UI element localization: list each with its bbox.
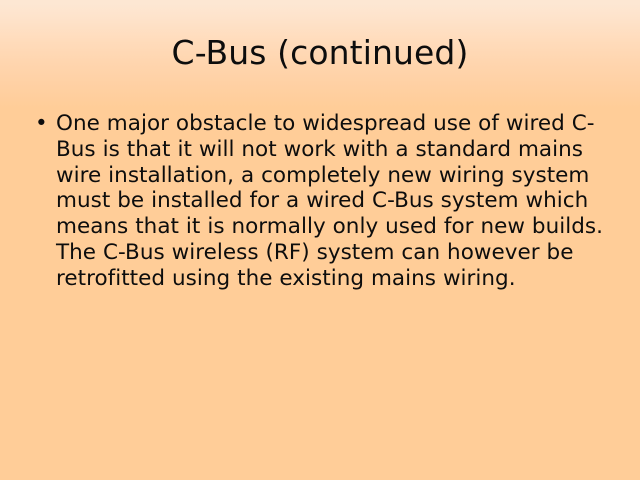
bullet-list-item: • One major obstacle to widespread use o… [33,111,611,292]
bullet-item-text: One major obstacle to widespread use of … [56,111,611,292]
presentation-slide: C-Bus (continued) • One major obstacle t… [0,0,640,480]
slide-body: • One major obstacle to widespread use o… [33,111,611,292]
slide-title: C-Bus (continued) [0,33,640,73]
bullet-point-icon: • [35,111,48,137]
